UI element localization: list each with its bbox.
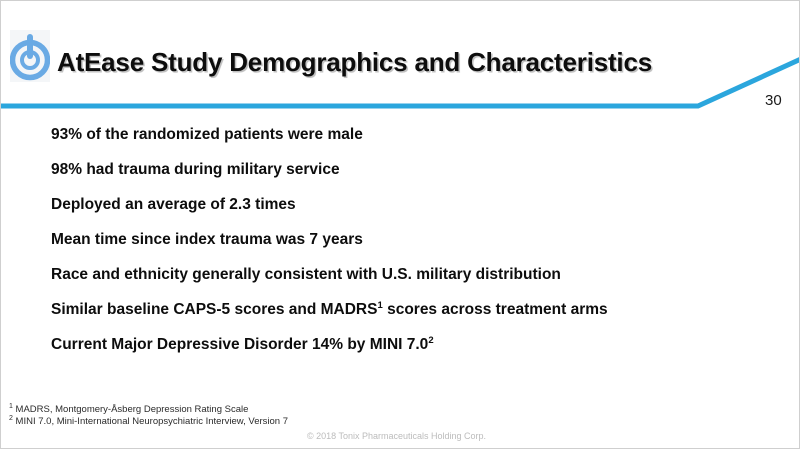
footnote-text: MINI 7.0, Mini-International Neuropsychi…	[13, 416, 288, 427]
body-line: Deployed an average of 2.3 times	[51, 187, 781, 222]
body-line: 93% of the randomized patients were male	[51, 117, 781, 152]
body-line: Mean time since index trauma was 7 years	[51, 222, 781, 257]
body-line: Current Major Depressive Disorder 14% by…	[51, 327, 781, 362]
body-line-text: 93% of the randomized patients were male	[51, 126, 363, 143]
page-number: 30	[765, 92, 782, 109]
footnote-item: 1 MADRS, Montgomery-Åsberg Depression Ra…	[9, 404, 288, 416]
footnote-marker: 2	[428, 335, 433, 346]
power-symbol-logo-icon	[10, 30, 50, 82]
body-line-text-after: scores across treatment arms	[383, 301, 608, 318]
footnotes: 1 MADRS, Montgomery-Åsberg Depression Ra…	[9, 404, 288, 427]
footnote-item: 2 MINI 7.0, Mini-International Neuropsyc…	[9, 416, 288, 428]
body-line: Similar baseline CAPS-5 scores and MADRS…	[51, 292, 781, 327]
body-line: Race and ethnicity generally consistent …	[51, 257, 781, 292]
body-line-text: Mean time since index trauma was 7 years	[51, 231, 363, 248]
body-line-text: Deployed an average of 2.3 times	[51, 196, 296, 213]
body-line-text: Similar baseline CAPS-5 scores and MADRS	[51, 301, 377, 318]
body-line-text: 98% had trauma during military service	[51, 161, 340, 178]
body-line: 98% had trauma during military service	[51, 152, 781, 187]
body-line-text: Race and ethnicity generally consistent …	[51, 266, 561, 283]
copyright-notice: © 2018 Tonix Pharmaceuticals Holding Cor…	[307, 431, 486, 441]
footnote-text: MADRS, Montgomery-Åsberg Depression Rati…	[13, 404, 248, 415]
body-line-text: Current Major Depressive Disorder 14% by…	[51, 336, 428, 353]
slide-title: AtEase Study Demographics and Characteri…	[57, 47, 652, 78]
slide: AtEase Study Demographics and Characteri…	[0, 0, 800, 449]
body-content-list: 93% of the randomized patients were male…	[51, 117, 781, 362]
